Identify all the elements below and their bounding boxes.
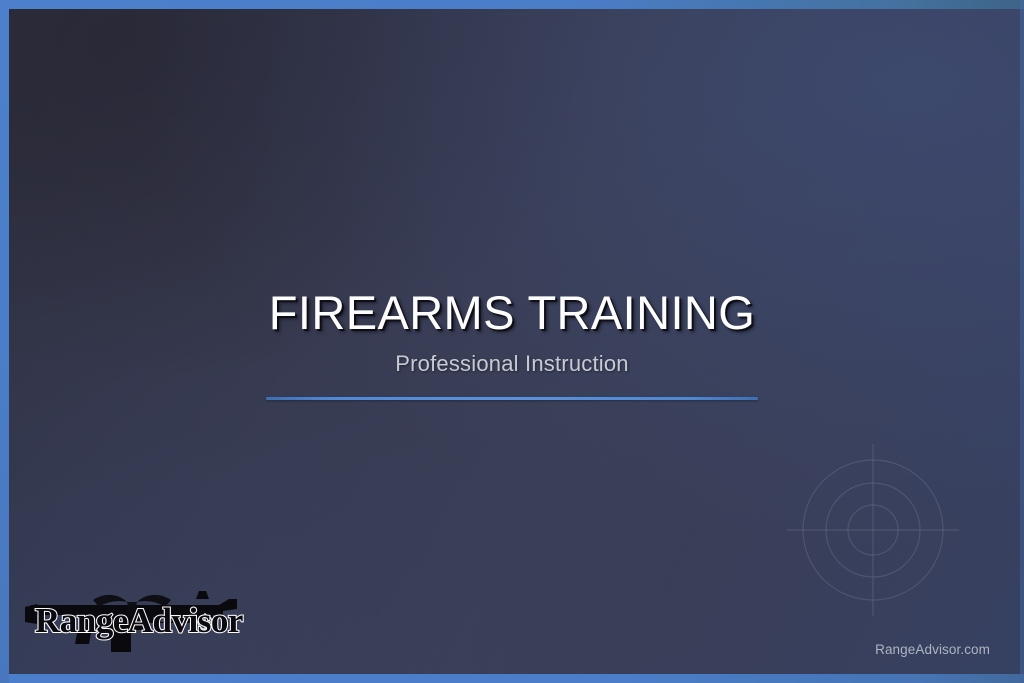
brand-wordmark: RangeAdvisor — [35, 601, 243, 640]
crosshair-target-icon — [787, 444, 959, 616]
title-block: FIREARMS TRAINING Professional Instructi… — [0, 284, 1024, 400]
presentation-slide: FIREARMS TRAINING Professional Instructi… — [0, 0, 1024, 683]
footer-website-url: RangeAdvisor.com — [875, 642, 990, 658]
brand-logo: RangeAdvisor — [23, 578, 255, 656]
page-title: FIREARMS TRAINING — [0, 284, 1024, 342]
title-divider — [266, 397, 758, 400]
page-subtitle: Professional Instruction — [0, 350, 1024, 378]
